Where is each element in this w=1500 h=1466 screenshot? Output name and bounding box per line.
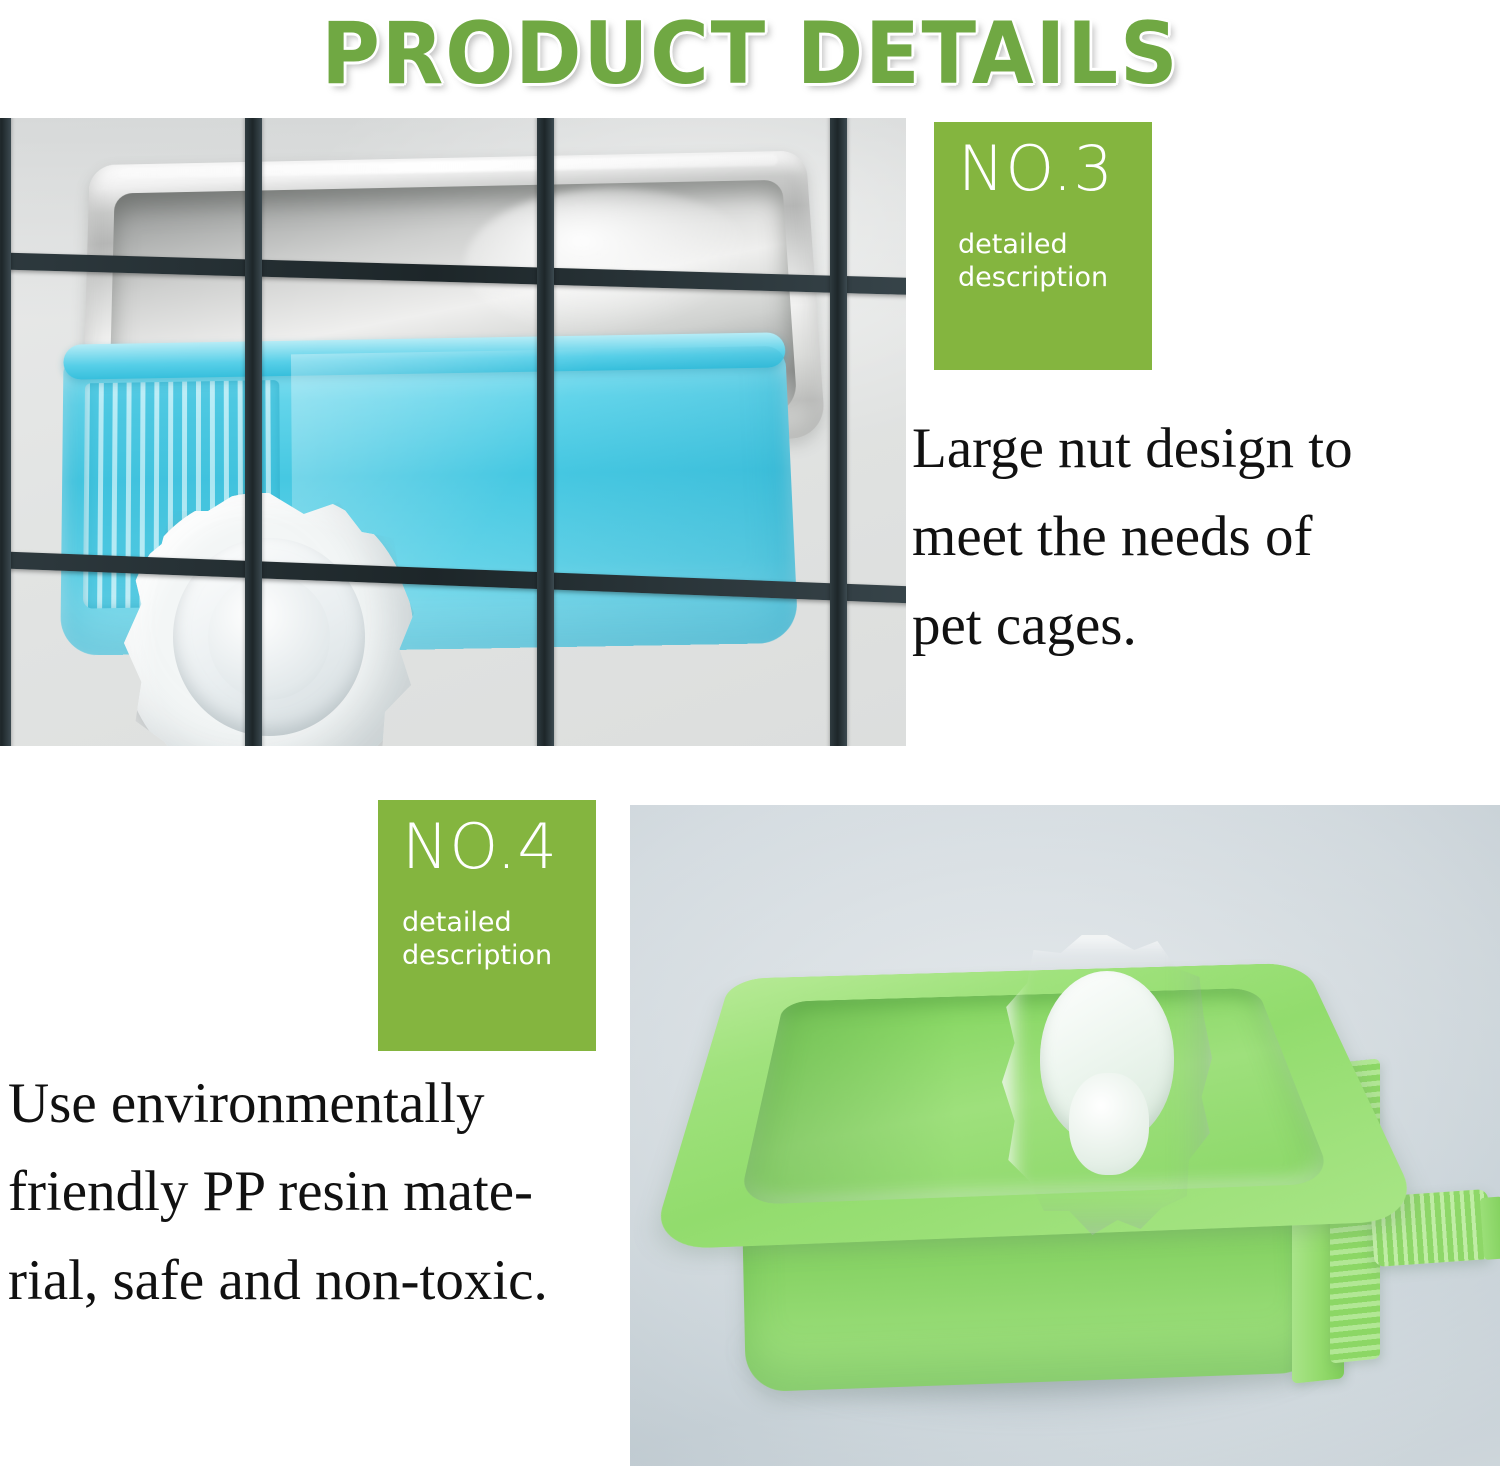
section-no4-copy-line3: rial, safe and non-toxic.: [8, 1237, 628, 1325]
section-no4-copy: Use environmentally friendly PP resin ma…: [8, 1060, 628, 1325]
green-pp-bowl-photo: [630, 805, 1500, 1466]
badge-no3-number: NO.3: [958, 136, 1152, 201]
section-no3-copy: Large nut design to meet the needs of pe…: [912, 405, 1492, 670]
section-no3-copy-line1: Large nut design to: [912, 405, 1492, 493]
section-no3-copy-line3: pet cages.: [912, 582, 1492, 670]
badge-no4-subtitle-line2: description: [402, 940, 596, 973]
product-details-page: PRODUCT DETAILS NO.3: [0, 0, 1500, 1466]
badge-no3-subtitle-line1: detailed: [958, 229, 1152, 262]
badge-no3-subtitle-line2: description: [958, 262, 1152, 295]
badge-no4: NO.4 detailed description: [378, 800, 596, 1051]
knob-center-nub: [1069, 1073, 1149, 1175]
section-no3-copy-line2: meet the needs of: [912, 493, 1492, 581]
blue-cage-mount-bowl-photo: [0, 118, 906, 746]
white-flower-nut: [124, 493, 414, 746]
badge-no4-number: NO.4: [402, 814, 596, 879]
page-title-text: PRODUCT DETAILS: [321, 11, 1179, 97]
badge-no3: NO.3 detailed description: [934, 122, 1152, 370]
section-no4-copy-line2: friendly PP resin mate-: [8, 1148, 628, 1236]
badge-no4-subtitle-line1: detailed: [402, 907, 596, 940]
green-screw-tip: [1480, 1196, 1500, 1260]
badge-no3-subtitle: detailed description: [958, 229, 1152, 295]
nut-center-cap: [208, 574, 330, 700]
white-flower-knob: [1002, 935, 1212, 1235]
page-title: PRODUCT DETAILS: [270, 0, 1230, 108]
badge-no4-subtitle: detailed description: [402, 907, 596, 973]
section-no4-copy-line1: Use environmentally: [8, 1060, 628, 1148]
green-bowl-interior-shading: [739, 996, 980, 1204]
